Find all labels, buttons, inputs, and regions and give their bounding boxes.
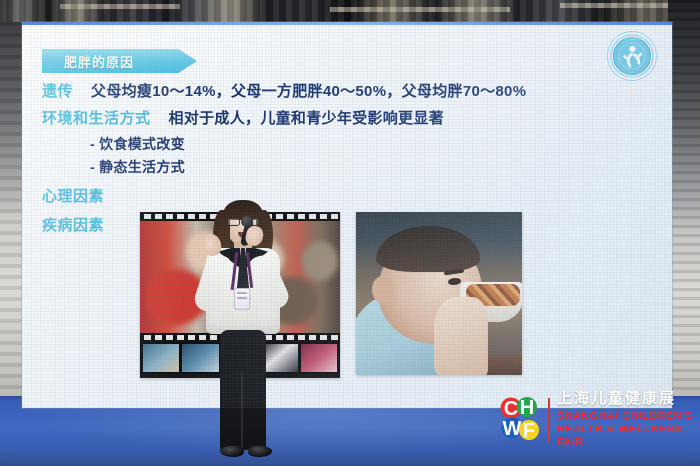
slide-title-banner: 肥胖的原因 bbox=[42, 49, 197, 73]
slide-line-genetics-key: 遗传 bbox=[42, 80, 73, 101]
svg-text:SCHOOL OF PUBLIC HEALTH: SCHOOL OF PUBLIC HEALTH bbox=[609, 37, 654, 41]
slide-line-environment-value: 相对于成人，儿童和青少年受影响更显著 bbox=[169, 107, 444, 128]
presenter-name-badge bbox=[234, 288, 250, 310]
slide-line-genetics: 遗传 父母均瘦10～14%，父母一方肥胖40～50%，父母均胖70～80% bbox=[42, 80, 652, 101]
svg-text:F: F bbox=[523, 420, 535, 442]
chwf-logo-mark: C H W F bbox=[500, 394, 546, 446]
venue-left-wall bbox=[0, 22, 24, 406]
slide-title: 肥胖的原因 bbox=[64, 52, 134, 71]
presenter-shoe-right bbox=[248, 446, 272, 457]
slide-subitem-sedentary: - 静态生活方式 bbox=[90, 157, 652, 177]
slide-body: 遗传 父母均瘦10～14%，父母一方肥胖40～50%，父母均胖70～80% 环境… bbox=[42, 80, 652, 235]
fair-name-chinese: 上海儿童健康展 bbox=[557, 391, 695, 408]
presenter bbox=[196, 196, 288, 462]
screen-top-glow bbox=[22, 22, 672, 25]
school-crest-logo: SCHOOL OF PUBLIC HEALTH PUBLIC HEALTH bbox=[606, 30, 658, 82]
presenter-shoe-left bbox=[220, 446, 244, 457]
svg-text:W: W bbox=[503, 418, 522, 440]
slide-line-psychological: 心理因素 bbox=[42, 185, 652, 206]
presenter-trousers bbox=[220, 330, 266, 450]
slide-subitem-diet: - 饮食模式改变 bbox=[90, 134, 652, 154]
child-ear bbox=[372, 276, 394, 304]
fair-name-english-line1: SHANGHAI CHILDREN'S bbox=[557, 410, 695, 423]
svg-text:C: C bbox=[504, 398, 518, 420]
child-eating-photo bbox=[356, 212, 522, 375]
svg-text:PUBLIC HEALTH: PUBLIC HEALTH bbox=[619, 75, 644, 79]
slide-line-environment-key: 环境和生活方式 bbox=[42, 107, 151, 128]
stage-scene: 肥胖的原因 SCHOOL OF PUBLIC HEALTH PU bbox=[0, 0, 700, 466]
svg-text:H: H bbox=[520, 397, 534, 419]
venue-right-hall bbox=[668, 0, 700, 400]
child-arm bbox=[434, 297, 488, 375]
slide-line-disease: 疾病因素 bbox=[42, 214, 652, 235]
fair-logo-text: 上海儿童健康展 SHANGHAI CHILDREN'S HEALTH & WEL… bbox=[557, 391, 695, 450]
fair-name-english-line2: HEALTH & WELLNESS FAIR bbox=[557, 423, 695, 449]
slide-line-environment: 环境和生活方式 相对于成人，儿童和青少年受影响更显著 bbox=[42, 107, 652, 128]
fair-logo: C H W F 上海儿童健康展 SHANGHAI CHILDREN'S HEAL… bbox=[500, 389, 695, 451]
slide-line-genetics-value: 父母均瘦10～14%，父母一方肥胖40～50%，父母均胖70～80% bbox=[91, 80, 526, 101]
led-presentation-screen: 肥胖的原因 SCHOOL OF PUBLIC HEALTH PU bbox=[22, 22, 672, 408]
presenter-trouser-seam bbox=[241, 372, 243, 448]
fair-logo-divider bbox=[548, 398, 550, 442]
